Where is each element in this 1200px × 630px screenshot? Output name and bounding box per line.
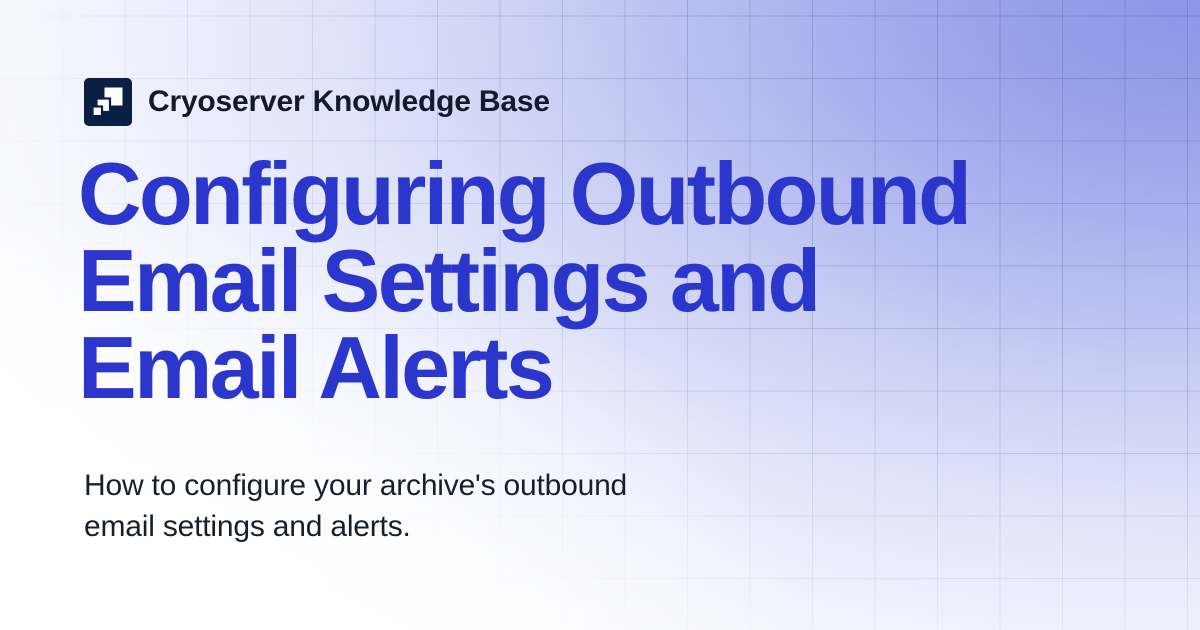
page-subtitle-line: email settings and alerts. <box>84 510 411 543</box>
cryoserver-squares-logo-icon <box>84 78 132 126</box>
page-subtitle: How to configure your archive's outbound… <box>84 466 844 548</box>
page-title-line: Email Alerts <box>78 318 552 417</box>
page-title-line: Email Settings and <box>78 231 818 330</box>
card-content: Cryoserver Knowledge Base Configuring Ou… <box>84 0 1124 630</box>
page-title-line: Configuring Outbound <box>78 144 969 243</box>
page-title: Configuring Outbound Email Settings and … <box>78 150 1124 411</box>
brand-title: Cryoserver Knowledge Base <box>148 87 550 117</box>
brand-lockup: Cryoserver Knowledge Base <box>84 78 550 126</box>
page-subtitle-line: How to configure your archive's outbound <box>84 469 627 502</box>
og-share-card: Cryoserver Knowledge Base Configuring Ou… <box>0 0 1200 630</box>
